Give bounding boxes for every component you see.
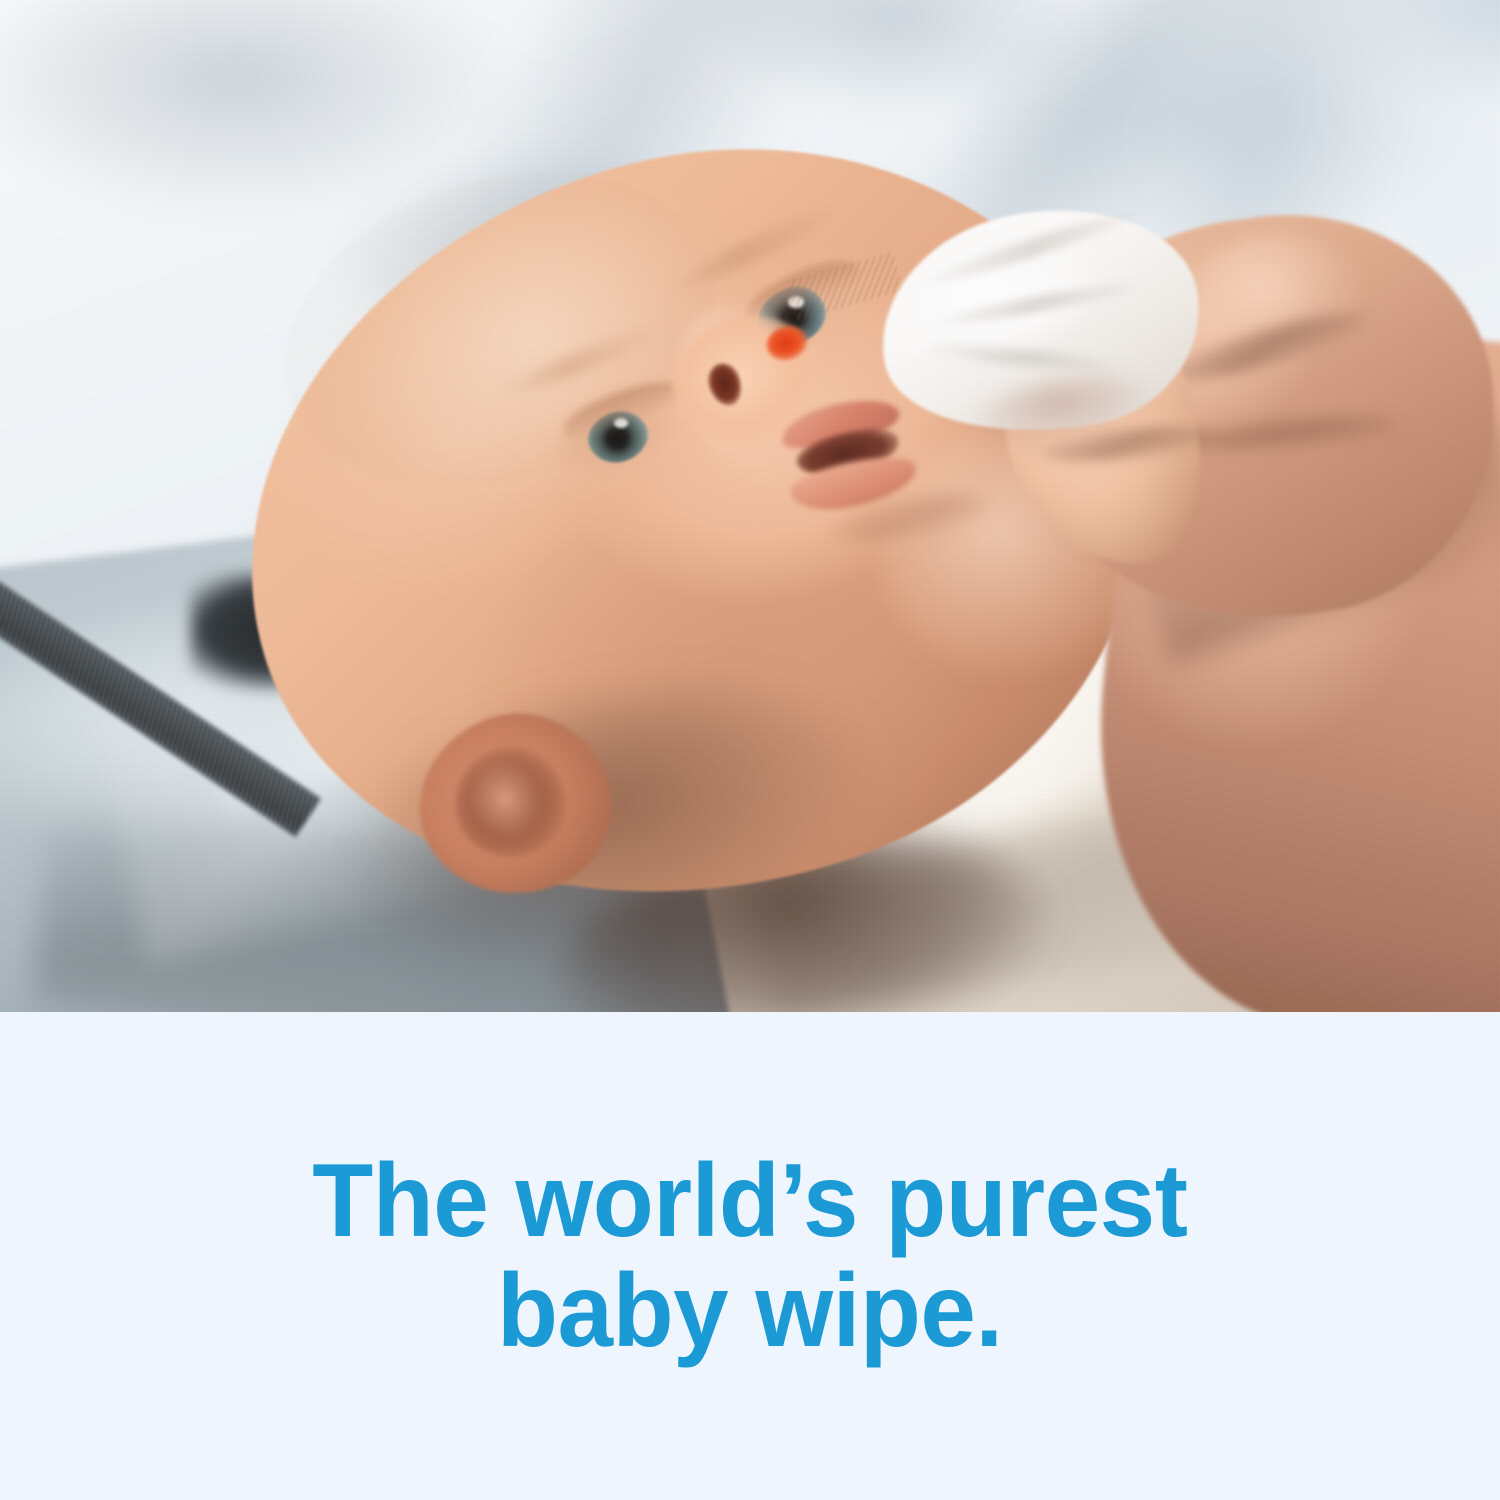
- caption-panel: The world’s purest baby wipe.: [0, 1012, 1500, 1500]
- headline-line-1: The world’s purest: [312, 1146, 1187, 1256]
- lifestyle-photo: [0, 0, 1500, 1012]
- product-lifestyle-banner: The world’s purest baby wipe.: [0, 0, 1500, 1500]
- headline: The world’s purest baby wipe.: [255, 1146, 1245, 1366]
- headline-line-2: baby wipe.: [312, 1256, 1187, 1366]
